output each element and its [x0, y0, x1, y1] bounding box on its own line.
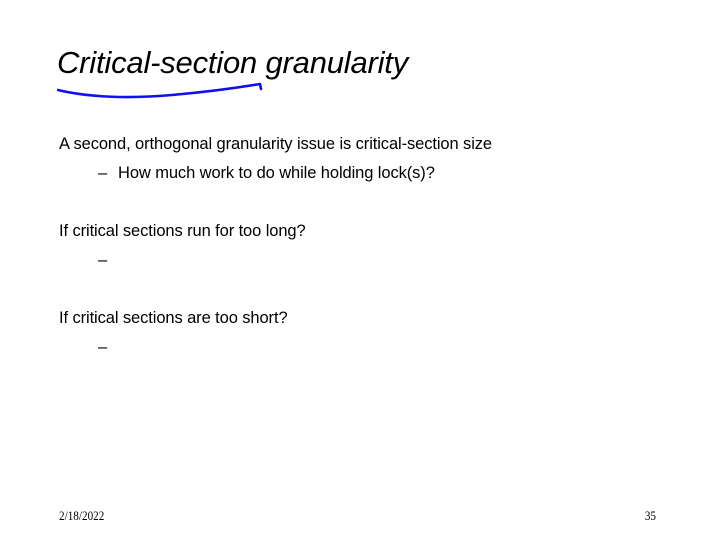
- footer-date: 2/18/2022: [59, 508, 104, 524]
- block-spacer: [59, 275, 669, 304]
- page-title: Critical-section granularity: [57, 45, 657, 81]
- hand-drawn-underline-icon: [57, 78, 287, 102]
- footer-page-number: 35: [645, 508, 656, 524]
- slide-canvas: Critical-section granularity A second, o…: [0, 0, 720, 540]
- body-sub-item: –: [59, 246, 669, 275]
- body-sub-item: –How much work to do while holding lock(…: [59, 159, 669, 188]
- title-block: Critical-section granularity: [57, 45, 657, 105]
- dash-bullet-icon: –: [98, 159, 118, 188]
- body-sub-item: –: [59, 333, 669, 362]
- body-heading: If critical sections run for too long?: [59, 217, 669, 246]
- body-content: A second, orthogonal granularity issue i…: [59, 130, 669, 362]
- body-sub-label: How much work to do while holding lock(s…: [118, 164, 435, 182]
- body-heading: A second, orthogonal granularity issue i…: [59, 130, 669, 159]
- dash-bullet-icon: –: [98, 246, 118, 275]
- block-spacer: [59, 188, 669, 217]
- body-heading: If critical sections are too short?: [59, 304, 669, 333]
- dash-bullet-icon: –: [98, 333, 118, 362]
